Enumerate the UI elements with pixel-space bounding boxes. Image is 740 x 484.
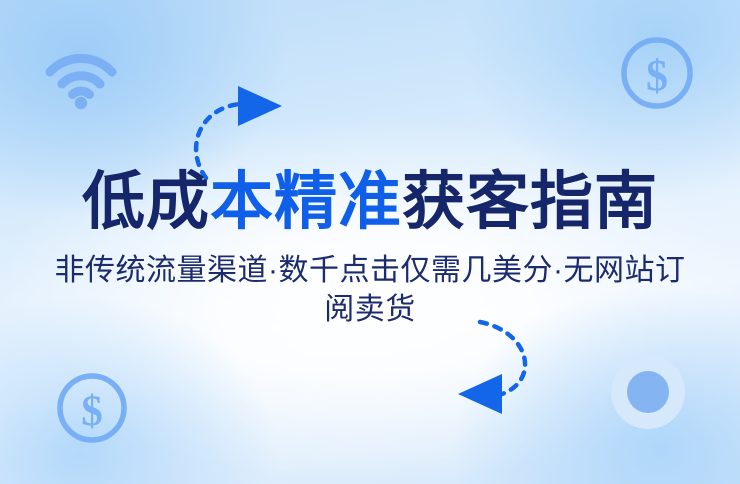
headline-segment-3: 获客指南 [402, 167, 658, 237]
poster-headline: 低成本精准获客指南 [82, 169, 658, 236]
poster-canvas: $ $ 低成本精准获客指南 非传统流量渠道·数千点击仅需几美分·无网站订阅卖货 [0, 0, 740, 484]
headline-segment-accent: 本精准 [210, 167, 402, 237]
poster-text-block: 低成本精准获客指南 非传统流量渠道·数千点击仅需几美分·无网站订阅卖货 [0, 0, 740, 484]
subheadline-line-1: 非传统流量渠道·数千点击仅需几美分· [55, 254, 564, 287]
headline-segment-1: 低成 [82, 167, 210, 237]
poster-subheadline: 非传统流量渠道·数千点击仅需几美分·无网站订阅卖货 [45, 251, 695, 329]
